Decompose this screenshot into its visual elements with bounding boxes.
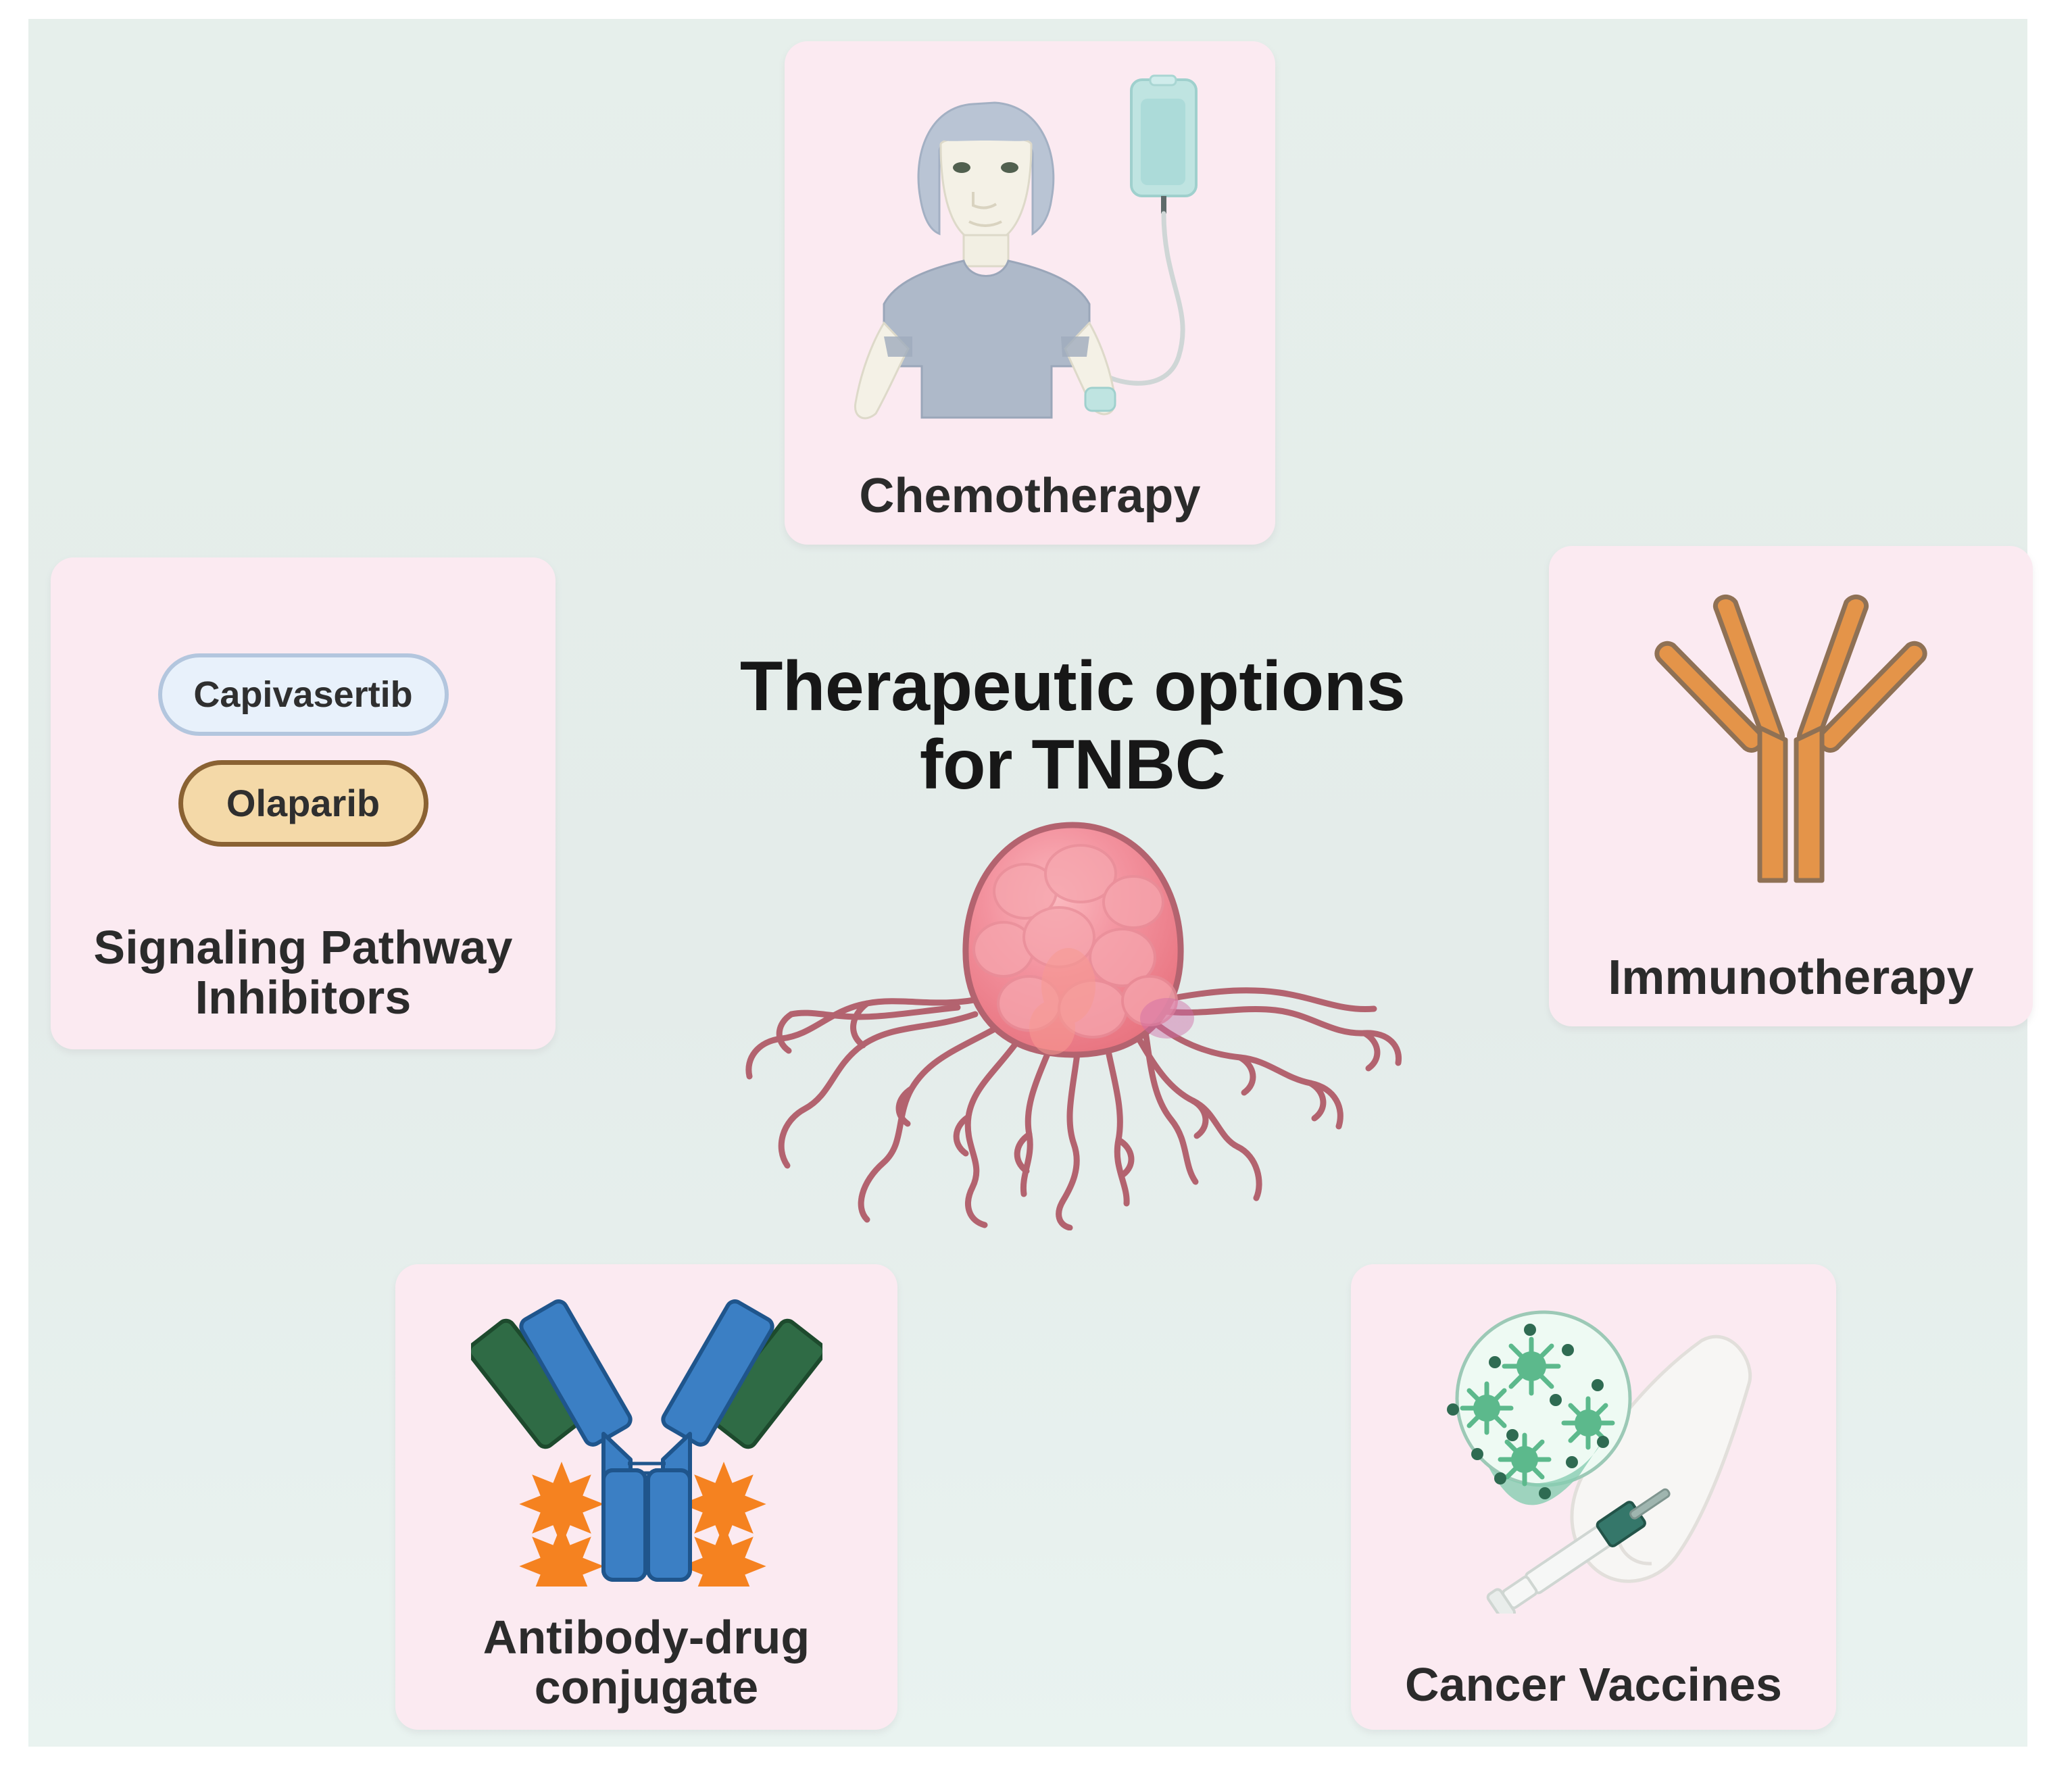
signaling-inhibitors-art: Capivasertib Olaparib bbox=[51, 557, 556, 922]
card-label-chemotherapy: Chemotherapy bbox=[785, 470, 1275, 545]
card-cancer-vaccines[interactable]: Cancer Vaccines bbox=[1351, 1264, 1836, 1730]
chip-label-capivasertib: Capivasertib bbox=[193, 674, 412, 716]
antibody-icon bbox=[1615, 590, 1967, 907]
tumor-cell-illustration bbox=[735, 811, 1410, 1230]
chip-label-olaparib: Olaparib bbox=[226, 781, 380, 825]
card-chemotherapy[interactable]: Chemotherapy bbox=[785, 41, 1275, 545]
chemotherapy-art bbox=[785, 41, 1275, 470]
syringe-vial-arm-icon bbox=[1411, 1309, 1776, 1614]
card-immunotherapy[interactable]: Immunotherapy bbox=[1549, 546, 2033, 1026]
card-label-signaling-pathway-inhibitors: Signaling Pathway Inhibitors bbox=[51, 922, 556, 1049]
immunotherapy-art bbox=[1549, 546, 2033, 952]
cancer-vaccines-art bbox=[1351, 1264, 1836, 1659]
card-label-immunotherapy: Immunotherapy bbox=[1549, 952, 2033, 1026]
chip-capivasertib[interactable]: Capivasertib bbox=[158, 653, 449, 736]
tumor-cell-icon bbox=[735, 811, 1410, 1230]
card-label-cancer-vaccines: Cancer Vaccines bbox=[1351, 1659, 1836, 1730]
antibody-drug-conjugate-icon bbox=[471, 1289, 822, 1587]
patient-with-iv-drip-icon bbox=[814, 66, 1246, 445]
center-title: Therapeutic options for TNBC bbox=[740, 647, 1405, 805]
card-signaling-pathway-inhibitors[interactable]: Capivasertib Olaparib Signaling Pathway … bbox=[51, 557, 556, 1049]
center-block: Therapeutic options for TNBC bbox=[657, 647, 1488, 1323]
drug-pills-icon: Capivasertib Olaparib bbox=[158, 653, 449, 847]
card-label-antibody-drug-conjugate: Antibody-drug conjugate bbox=[395, 1612, 897, 1730]
figure-canvas: Chemotherapy Capivasertib Olaparib Signa… bbox=[0, 0, 2072, 1773]
card-antibody-drug-conjugate[interactable]: Antibody-drug conjugate bbox=[395, 1264, 897, 1730]
chip-olaparib[interactable]: Olaparib bbox=[178, 760, 428, 847]
figure-background: Chemotherapy Capivasertib Olaparib Signa… bbox=[28, 19, 2027, 1747]
